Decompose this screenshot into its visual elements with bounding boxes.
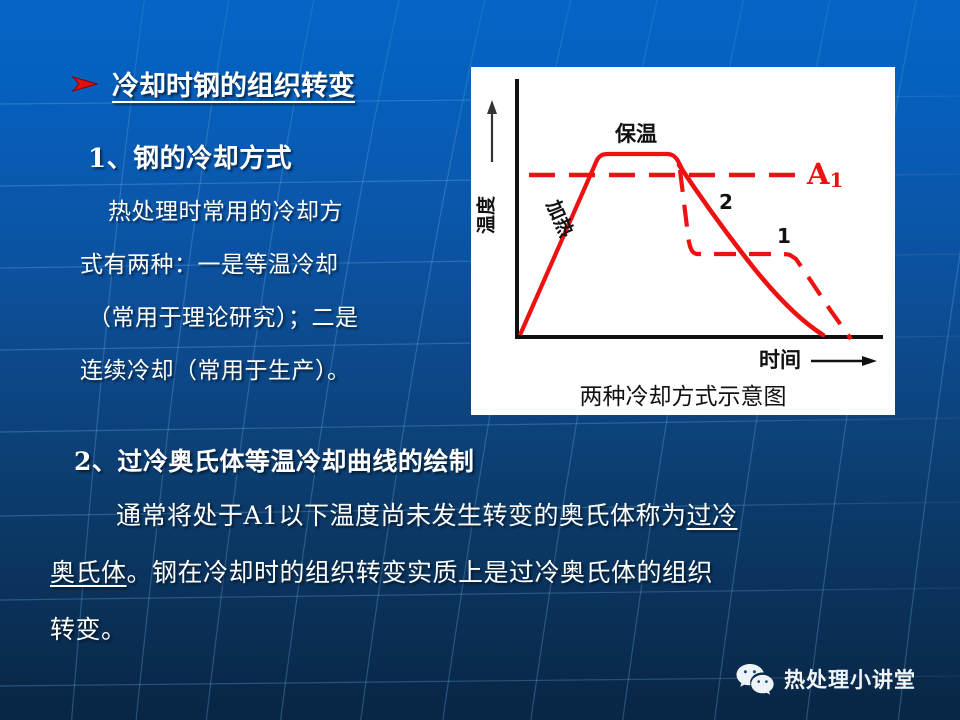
section-2-line-3: 转变。 — [50, 610, 127, 646]
section-2-title: 2、过冷奥氏体等温冷却曲线的绘制 — [74, 442, 474, 478]
slide-root: 冷却时钢的组织转变 1、钢的冷却方式 热处理时常用的冷却方 式有两种：一是等温冷… — [0, 0, 960, 720]
y-axis-label: 温度 — [475, 195, 498, 234]
curve-1-label: 1 — [777, 224, 791, 248]
section-1-line-2: 式有两种：一是等温冷却 — [80, 245, 339, 279]
figure-panel: 温度 A1 加热 保温 2 1 时间 — [471, 67, 895, 415]
a1-label: A1 — [806, 157, 843, 192]
heading-row: 冷却时钢的组织转变 — [72, 64, 355, 103]
holding-annotation: 保温 — [614, 122, 657, 146]
brand-logo: 热处理小讲堂 — [735, 662, 916, 696]
wechat-icon — [735, 662, 775, 696]
figure-caption: 两种冷却方式示意图 — [580, 384, 787, 410]
cooling-methods-diagram: 温度 A1 加热 保温 2 1 时间 — [471, 67, 895, 415]
brand-logo-text: 热处理小讲堂 — [784, 664, 916, 694]
curve-2-label: 2 — [719, 190, 733, 214]
section-2-line-2: 奥氏体。钢在冷却时的组织转变实质上是过冷奥氏体的组织 — [50, 553, 713, 589]
curve-2-continuous-cooling — [679, 165, 823, 335]
section-2-line-1: 通常将处于A1以下温度尚未发生转变的奥氏体称为过冷 — [116, 496, 737, 532]
heating-holding-curve — [520, 154, 683, 335]
x-axis-label: 时间 — [759, 348, 801, 372]
red-arrow-bullet-icon — [72, 74, 98, 94]
curve-1-isothermal-cooling — [680, 170, 851, 339]
page-title: 冷却时钢的组织转变 — [112, 64, 355, 103]
section-1-line-3: （常用于理论研究）；二是 — [88, 298, 359, 332]
y-axis-arrow-icon — [487, 100, 497, 162]
section-1-line-1: 热处理时常用的冷却方 — [108, 192, 343, 226]
x-axis-arrow-icon — [811, 356, 877, 366]
section-1-line-4: 连续冷却（常用于生产）。 — [80, 351, 351, 385]
section-1-title: 1、钢的冷却方式 — [88, 138, 292, 175]
